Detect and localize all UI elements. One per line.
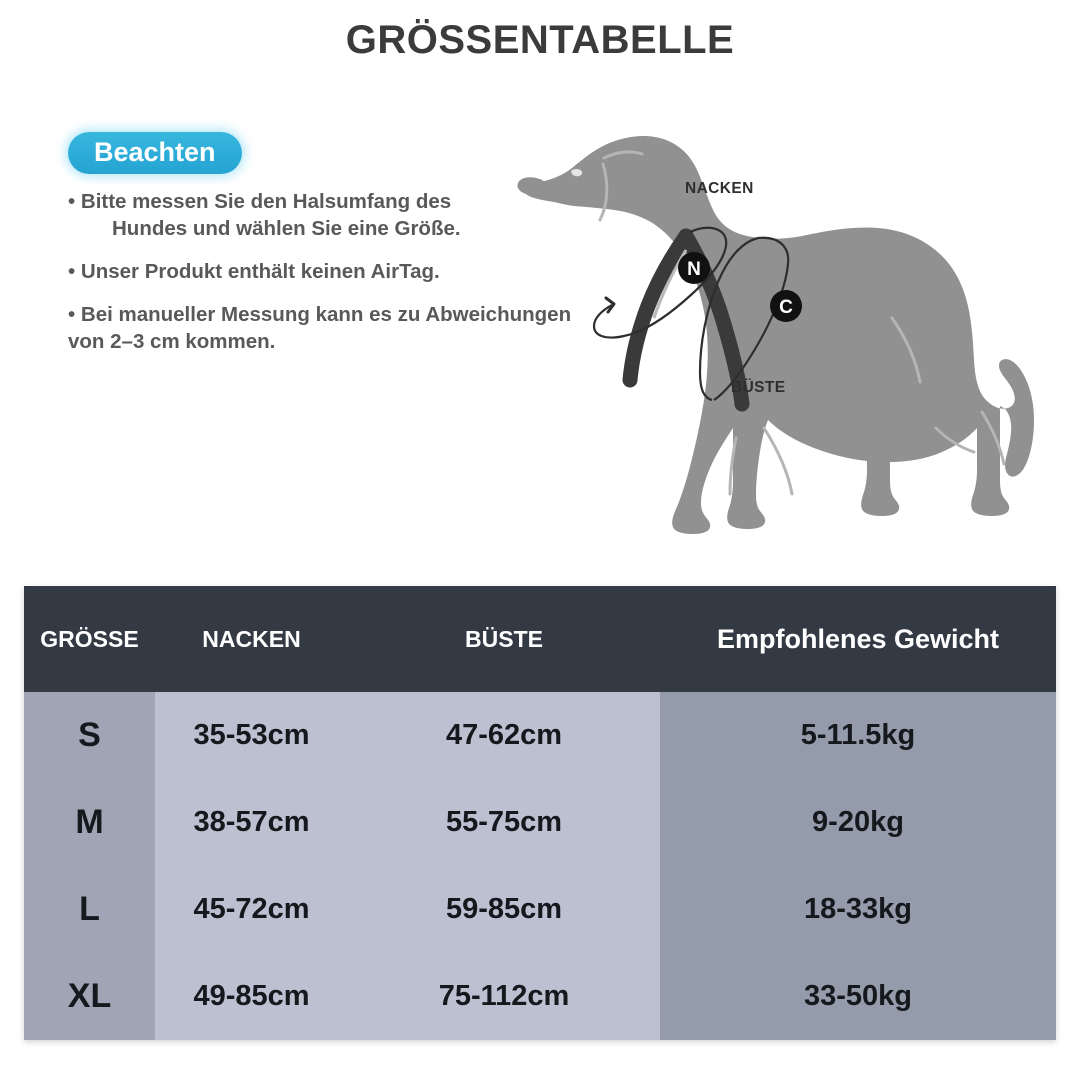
- table-cell-neck: 45-72cm: [155, 866, 348, 953]
- dog-measurement-diagram: N C NACKEN BÜSTE: [496, 128, 1066, 538]
- note-line-1: Unser Produkt enthält keinen AirTag.: [81, 260, 440, 283]
- table-cell-neck: 38-57cm: [155, 779, 348, 866]
- note-bullet: •: [68, 190, 75, 213]
- table-cell-weight: 18-33kg: [660, 866, 1056, 953]
- label-nacken: NACKEN: [685, 180, 754, 197]
- label-bueste: BÜSTE: [731, 379, 786, 396]
- page-title: GRÖSSENTABELLE: [0, 18, 1080, 63]
- neck-marker-letter: N: [687, 259, 701, 280]
- neck-marker-badge: N: [678, 252, 710, 284]
- table-cell-weight: 33-50kg: [660, 953, 1056, 1040]
- table-cell-chest: 47-62cm: [348, 692, 660, 779]
- table-cell-chest: 59-85cm: [348, 866, 660, 953]
- table-body: S M L XL 35-53cm 38-57cm 45-72cm 49-85cm…: [24, 692, 1056, 1040]
- table-cell-size: M: [24, 779, 155, 866]
- column-header-weight: Empfohlenes Gewicht: [660, 586, 1056, 692]
- column-header-chest: BÜSTE: [348, 586, 660, 692]
- column-header-size: GRÖSSE: [24, 586, 155, 692]
- table-cell-size: S: [24, 692, 155, 779]
- table-cell-neck: 49-85cm: [155, 953, 348, 1040]
- table-cell-weight: 9-20kg: [660, 779, 1056, 866]
- table-cell-weight: 5-11.5kg: [660, 692, 1056, 779]
- table-column-weight: 5-11.5kg 9-20kg 18-33kg 33-50kg: [660, 692, 1056, 1040]
- table-header-row: GRÖSSE NACKEN BÜSTE Empfohlenes Gewicht: [24, 586, 1056, 692]
- table-cell-neck: 35-53cm: [155, 692, 348, 779]
- table-cell-size: L: [24, 866, 155, 953]
- note-bullet: •: [68, 260, 75, 283]
- table-cell-size: XL: [24, 953, 155, 1040]
- table-cell-chest: 55-75cm: [348, 779, 660, 866]
- table-column-neck: 35-53cm 38-57cm 45-72cm 49-85cm: [155, 692, 348, 1040]
- table-cell-chest: 75-112cm: [348, 953, 660, 1040]
- note-bullet: •: [68, 303, 75, 326]
- note-line-1: Bitte messen Sie den Halsumfang des: [81, 190, 451, 213]
- table-column-chest: 47-62cm 55-75cm 59-85cm 75-112cm: [348, 692, 660, 1040]
- chest-marker-letter: C: [779, 297, 793, 318]
- dog-silhouette-icon: [517, 136, 1034, 534]
- beachten-badge: Beachten: [68, 132, 242, 174]
- chest-marker-badge: C: [770, 290, 802, 322]
- table-column-size: S M L XL: [24, 692, 155, 1040]
- column-header-neck: NACKEN: [155, 586, 348, 692]
- size-table: GRÖSSE NACKEN BÜSTE Empfohlenes Gewicht …: [24, 586, 1056, 1040]
